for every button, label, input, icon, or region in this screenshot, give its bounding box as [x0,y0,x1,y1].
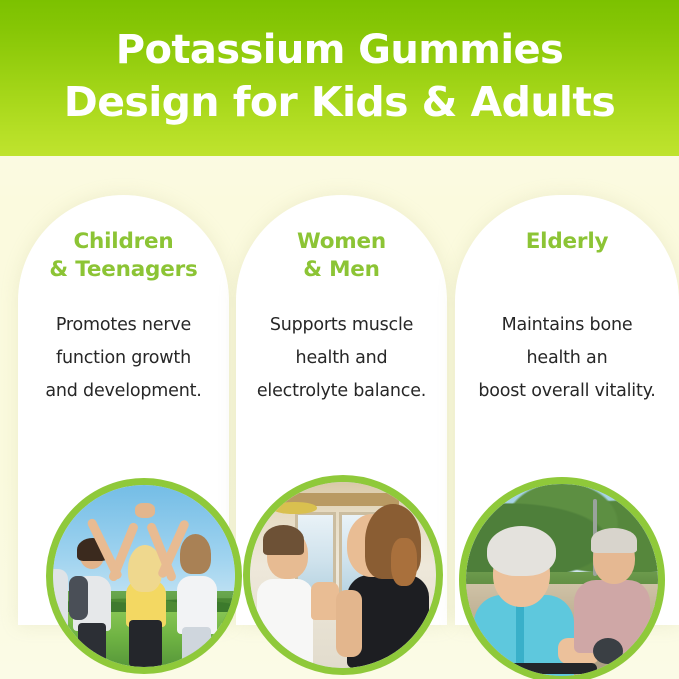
card-body-women-men: Supports muscle health and electrolyte b… [242,309,441,408]
figure-boy-left-legs [78,623,105,667]
card-heading-children-line-1: Children [18,228,229,256]
benefit-card-elderly: Elderly Maintains bone health an boost o… [455,195,679,625]
benefit-card-women-men: Women & Men Supports muscle health and e… [236,195,447,625]
bicycle-handlebar [504,663,596,675]
photo-scene-seniors [466,484,658,676]
photo-scene-teenagers [53,485,235,667]
figure-woman-gym-shoulder [336,590,362,657]
joined-hands-apex [135,503,155,518]
card-body-children-line-1: Promotes nerve [24,309,223,342]
header-title-line-2: Design for Kids & Adults [64,76,615,128]
photo-scene-gym [250,482,436,668]
card-heading-children: Children & Teenagers [18,228,229,284]
photo-senior-couple-cycling [459,477,665,679]
figure-senior-man-hair [591,528,637,553]
figure-girl-right-body [177,576,217,634]
card-body-elderly: Maintains bone health an boost overall v… [461,309,673,408]
header-title-line-1: Potassium Gummies [116,24,563,76]
card-heading-children-line-2: & Teenagers [18,256,229,284]
card-body-children-line-3: and development. [24,375,223,408]
figure-senior-woman-hair [487,526,556,576]
benefit-cards-row: Children & Teenagers Promotes nerve func… [0,156,679,679]
card-body-children: Promotes nerve function growth and devel… [24,309,223,408]
card-heading-women-men-line-1: Women [236,228,447,256]
card-body-women-men-line-2: health and [242,342,441,375]
figure-woman-gym-ponytail [391,538,417,586]
photo-teenagers-high-five [46,478,242,674]
card-heading-women-men: Women & Men [236,228,447,284]
card-body-women-men-line-1: Supports muscle [242,309,441,342]
benefit-card-children: Children & Teenagers Promotes nerve func… [18,195,229,625]
figure-girl-right-legs [182,627,211,667]
card-body-elderly-line-1: Maintains bone [461,309,673,342]
card-body-elderly-line-3: boost overall vitality. [461,375,673,408]
gym-rope-coil [272,502,317,513]
figure-girl-center-legs [129,620,162,667]
card-heading-women-men-line-2: & Men [236,256,447,284]
figure-man-gym-hair [263,525,304,555]
card-heading-elderly: Elderly [455,228,679,256]
header-banner: Potassium Gummies Design for Kids & Adul… [0,0,679,156]
card-body-women-men-line-3: electrolyte balance. [242,375,441,408]
figure-far-left-partial [53,569,68,635]
figure-man-gym-body [257,579,313,668]
photo-woman-man-gym [243,475,443,675]
figure-boy-left-backpack [69,576,87,620]
card-body-children-line-2: function growth [24,342,223,375]
card-heading-elderly-line-1: Elderly [455,228,679,256]
infographic-poster: Potassium Gummies Design for Kids & Adul… [0,0,679,679]
figure-girl-right-hair [180,534,211,574]
card-body-elderly-line-2: health an [461,342,673,375]
